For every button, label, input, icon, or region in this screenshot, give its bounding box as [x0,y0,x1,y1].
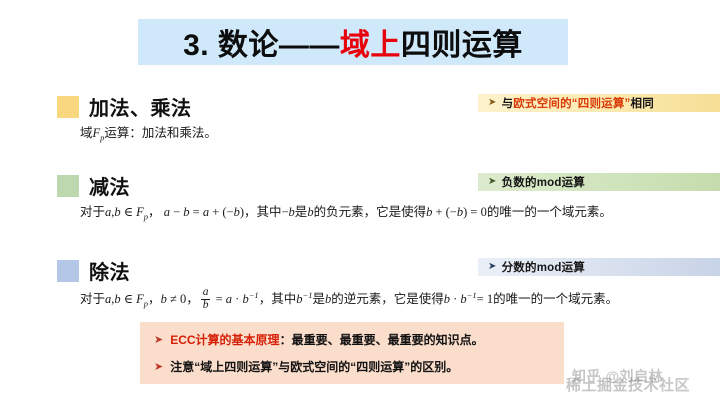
callout-negative-mod: ➤负数的mod运算 [478,173,720,191]
callout-label: 负数的mod运算 [502,174,585,190]
section-heading: 除法 [89,256,130,285]
summary-text: ：最重要、最重要、最重要的知识点。 [280,331,484,348]
callout-euclidean-same: ➤与欧式空间的“四则运算”相同 [478,94,720,112]
callout-suffix: 相同 [631,95,654,111]
body-suffix: 运算：加法和乘法。 [104,126,217,140]
section-body: 域Fp运算：加法和乘法。 [80,122,217,143]
callout-label: 分数的mod运算 [502,259,585,275]
section-body-formula: 对于a,b ∈ Fp，b ≠ 0，ab = a · b−1，其中b−1是b的逆元… [80,288,618,312]
bullet-arrow-icon: ➤ [488,262,497,272]
summary-highlight: ECC计算的基本原理 [170,331,279,348]
section-marker-yellow [57,96,79,118]
section-marker-blue [57,260,79,282]
summary-row-ecc-principle: ➤ECC计算的基本原理：最重要、最重要、最重要的知识点。 [154,331,484,348]
section-heading: 加法、乘法 [89,92,192,121]
callout-prefix: 与 [502,95,514,111]
watermark-line-a: 知乎 @刘启林 [572,366,663,386]
bullet-arrow-icon: ➤ [154,333,163,346]
title-prefix: 3. 数论—— [183,20,340,64]
summary-text: 注意“域上四则运算”与欧式空间的“四则运算”的区别。 [170,358,458,375]
callout-fraction-mod: ➤分数的mod运算 [478,258,720,276]
title-highlight: 域上 [340,20,401,64]
watermark: 知乎 @刘启林 稀土掘金技术社区 [566,366,718,400]
section-marker-green [57,175,79,197]
bullet-arrow-icon: ➤ [488,177,497,187]
bullet-arrow-icon: ➤ [488,98,497,108]
bullet-arrow-icon: ➤ [154,360,163,373]
section-body-formula: 对于a,b ∈ Fp， a − b = a + (−b)，其中−b是b的负元素，… [80,201,612,222]
watermark-line-b: 稀土掘金技术社区 [566,374,690,395]
section-heading: 减法 [89,171,130,200]
page-title: 3. 数论——域上四则运算 [138,19,568,65]
summary-row-note-difference: ➤注意“域上四则运算”与欧式空间的“四则运算”的区别。 [154,358,458,375]
summary-box: ➤ECC计算的基本原理：最重要、最重要、最重要的知识点。 ➤注意“域上四则运算”… [140,322,564,384]
body-variable: F [93,126,101,140]
slide-canvas: 3. 数论——域上四则运算 加法、乘法 域Fp运算：加法和乘法。 减法 对于a,… [0,0,720,405]
body-prefix: 域 [80,126,93,140]
title-suffix: 四则运算 [401,20,523,64]
callout-highlight: 欧式空间的“四则运算” [513,95,630,111]
